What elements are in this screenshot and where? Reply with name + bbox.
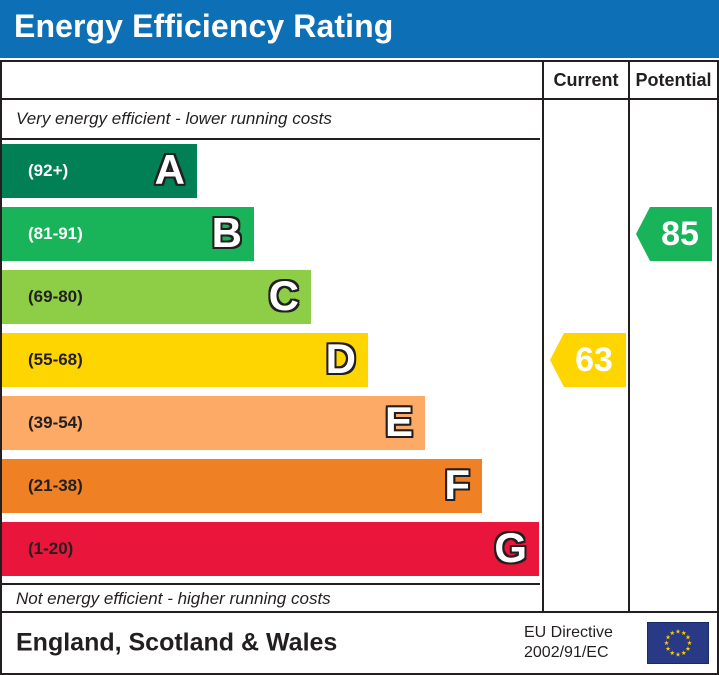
- page-title: Energy Efficiency Rating: [14, 8, 393, 45]
- caption-rule-bottom: [2, 583, 540, 585]
- band-letter-c: C: [269, 275, 299, 317]
- band-range-c: (69-80): [28, 287, 83, 307]
- column-divider-potential: [628, 62, 630, 611]
- rating-band-f: (21-38)F: [2, 459, 482, 513]
- band-letter-a: A: [155, 149, 185, 191]
- rating-band-g: (1-20)G: [2, 522, 539, 576]
- column-header-row: Current Potential: [2, 62, 717, 100]
- band-range-f: (21-38): [28, 476, 83, 496]
- band-range-e: (39-54): [28, 413, 83, 433]
- band-letter-g: G: [494, 527, 527, 569]
- eu-flag-icon: [647, 622, 709, 664]
- energy-efficiency-rating-chart: Energy Efficiency Rating Current Potenti…: [0, 0, 719, 675]
- footer-directive: EU Directive 2002/91/EC: [524, 623, 613, 663]
- rating-band-a: (92+)A: [2, 144, 197, 198]
- column-header-current: Current: [542, 62, 628, 98]
- rating-band-c: (69-80)C: [2, 270, 311, 324]
- band-letter-d: D: [326, 338, 356, 380]
- band-range-g: (1-20): [28, 539, 73, 559]
- column-header-potential: Potential: [628, 62, 717, 98]
- column-divider-current: [542, 62, 544, 611]
- band-range-a: (92+): [28, 161, 68, 181]
- rating-arrow-current: 63: [550, 333, 626, 387]
- rating-bands: (92+)A(81-91)B(69-80)C(55-68)D(39-54)E(2…: [2, 140, 540, 583]
- chart-footer: England, Scotland & Wales EU Directive 2…: [0, 611, 719, 675]
- rating-band-d: (55-68)D: [2, 333, 368, 387]
- footer-region-label: England, Scotland & Wales: [16, 629, 337, 658]
- footer-directive-line1: EU Directive: [524, 623, 613, 643]
- rating-band-b: (81-91)B: [2, 207, 254, 261]
- caption-very-efficient: Very energy efficient - lower running co…: [16, 109, 332, 129]
- footer-directive-line2: 2002/91/EC: [524, 643, 613, 663]
- chart-table: Current Potential Very energy efficient …: [0, 60, 719, 613]
- band-letter-e: E: [385, 401, 413, 443]
- band-range-b: (81-91): [28, 224, 83, 244]
- band-letter-f: F: [444, 464, 470, 506]
- rating-arrow-potential: 85: [636, 207, 712, 261]
- band-range-d: (55-68): [28, 350, 83, 370]
- band-letter-b: B: [212, 212, 242, 254]
- chart-title-bar: Energy Efficiency Rating: [0, 0, 719, 58]
- rating-value-current: 63: [563, 343, 613, 377]
- rating-band-e: (39-54)E: [2, 396, 425, 450]
- rating-value-potential: 85: [649, 217, 699, 251]
- caption-not-efficient: Not energy efficient - higher running co…: [16, 589, 331, 609]
